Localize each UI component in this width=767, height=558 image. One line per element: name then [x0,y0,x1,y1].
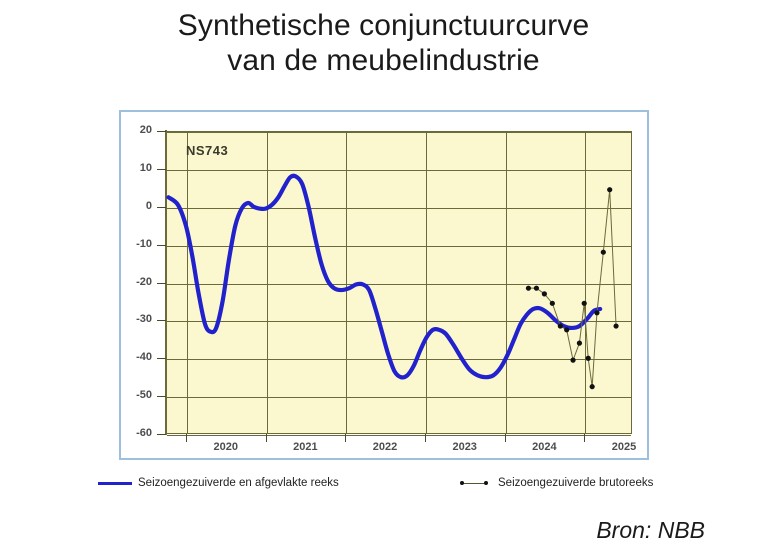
series-gross-markers [526,187,619,389]
smoothed-series-path [168,176,600,378]
gross-series-marker [594,310,599,315]
gross-series-marker [526,286,531,291]
gross-series-marker [570,358,575,363]
gross-series-marker [542,291,547,296]
source-note: Bron: NBB [596,517,705,544]
legend-line-swatch-icon [98,482,132,485]
legend-dots-swatch-icon [458,479,492,487]
series-smoothed-curve [168,176,600,378]
legend-entry-smoothed: Seizoengezuiverde en afgevlakte reeks [98,477,339,489]
legend-label-smoothed: Seizoengezuiverde en afgevlakte reeks [138,477,339,489]
chart-data-layer [119,110,649,460]
gross-series-connector [528,190,616,387]
gross-series-marker [534,286,539,291]
page-title: Synthetische conjunctuurcurve van de meu… [0,8,767,79]
gross-series-marker [582,301,587,306]
legend-dot-left [460,481,464,485]
gross-series-marker [550,301,555,306]
legend-dot-right [484,481,488,485]
title-line-1: Synthetische conjunctuurcurve [0,8,767,43]
gross-series-marker [558,323,563,328]
legend-label-gross: Seizoengezuiverde brutoreeks [498,477,653,489]
gross-series-marker [590,384,595,389]
gross-series-marker [564,327,569,332]
legend-entry-gross: Seizoengezuiverde brutoreeks [458,477,653,489]
gross-series-marker [607,187,612,192]
gross-series-marker [601,250,606,255]
legend-dot-connector [463,483,485,484]
gross-series-marker [577,341,582,346]
title-line-2: van de meubelindustrie [0,43,767,78]
chart-legend: Seizoengezuiverde en afgevlakte reeks Se… [90,477,710,499]
gross-series-marker [586,356,591,361]
gross-series-marker [613,323,618,328]
